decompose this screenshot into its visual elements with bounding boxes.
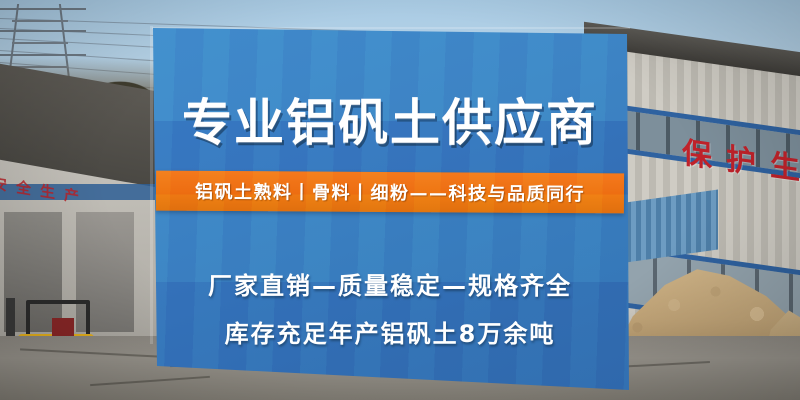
blue-overlay-panel: 专业铝矾土供应商 铝矾土熟料丨骨料丨细粉——科技与品质同行 厂家直销—质量稳定—… [150,26,630,392]
highlight-strip-text: 铝矾土熟料丨骨料丨细粉——科技与品质同行 [195,178,585,206]
banner-subline-1: 厂家直销—质量稳定—规格齐全 [150,266,630,301]
panel-top-edge [152,27,630,29]
banner-subline-2: 库存充足年产铝矾土8万余吨 [150,314,630,349]
banner-title: 专业铝矾土供应商 [150,98,630,148]
promotional-banner: 安全生产 保护生态 [0,0,800,400]
highlight-strip: 铝矾土熟料丨骨料丨细粉——科技与品质同行 [156,171,624,214]
panel-left-edge [150,26,153,344]
